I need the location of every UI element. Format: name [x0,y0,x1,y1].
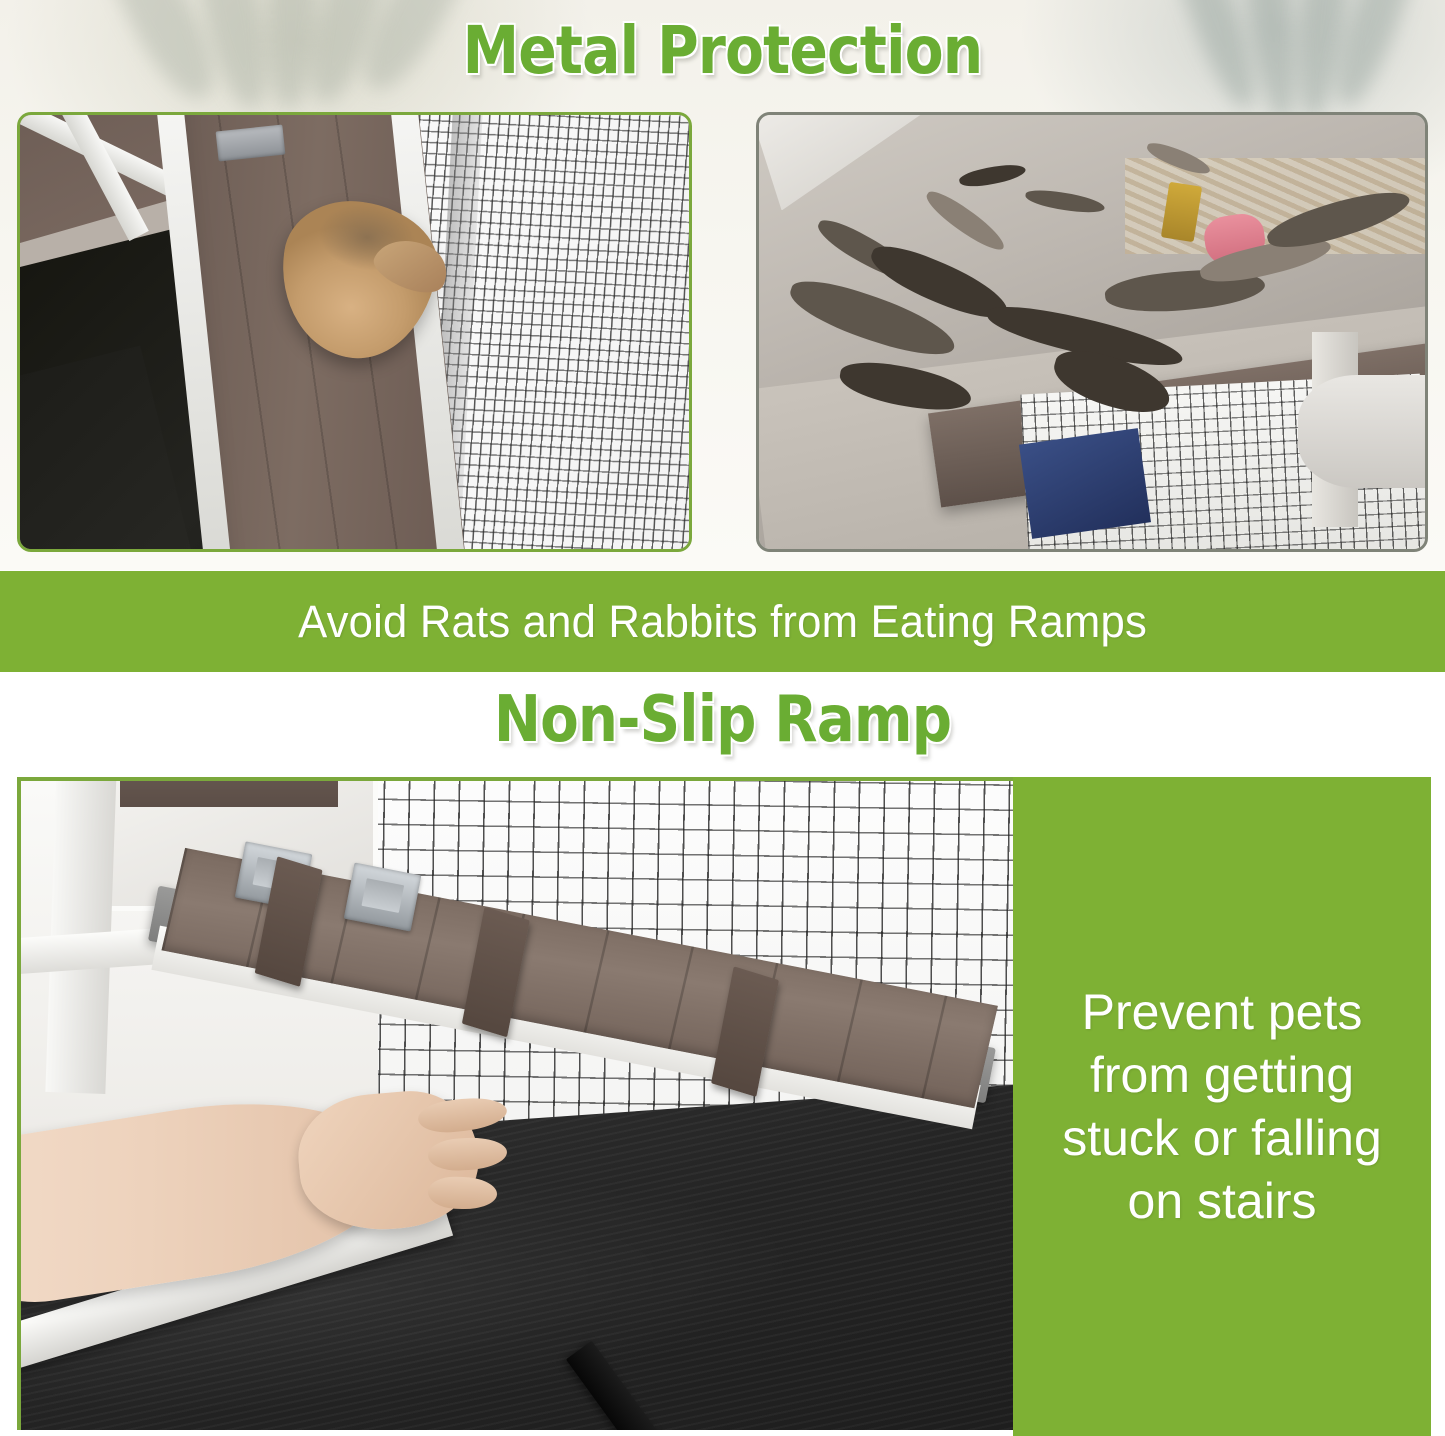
photo-artwork [20,115,689,549]
infographic-canvas: Metal Protection [0,0,1445,1436]
blue-tray [1019,428,1151,539]
white-panel-corner [756,112,945,210]
metal-protection-section: Metal Protection [0,0,1445,570]
avoid-eating-ramps-banner: Avoid Rats and Rabbits from Eating Ramps [0,571,1445,672]
wood-debris [1025,188,1107,216]
callout-line: on stairs [1062,1170,1382,1233]
callout-line: stuck or falling [1062,1107,1382,1170]
page-title-metal-protection: Metal Protection [101,12,1344,90]
callout-text: Prevent pets from getting stuck or falli… [1048,981,1396,1233]
hutch-door-wood-panel [120,777,338,807]
hand-holding-ramp-photo [17,777,1013,1430]
wood-debris [921,186,1010,256]
non-slip-ramp-section: Non-Slip Ramp [0,672,1445,1436]
callout-line: from getting [1062,1044,1382,1107]
callout-line: Prevent pets [1062,981,1382,1044]
wood-debris [958,160,1027,191]
white-tube [1298,375,1428,488]
photo-artwork [759,115,1425,549]
page-title-non-slip-ramp: Non-Slip Ramp [87,682,1359,758]
banner-label: Avoid Rats and Rabbits from Eating Ramps [298,596,1147,648]
chewed-ramp-damage-photo [756,112,1428,552]
rabbit-on-ramp-photo [17,112,692,552]
prevent-pets-callout-panel: Prevent pets from getting stuck or falli… [1013,777,1431,1436]
photo-artwork [21,781,1013,1430]
